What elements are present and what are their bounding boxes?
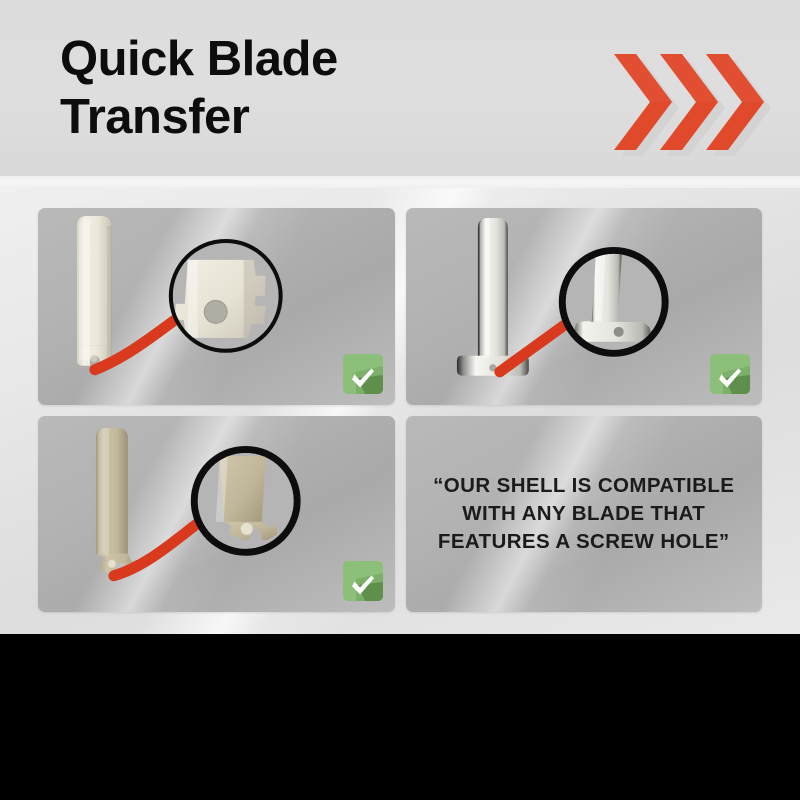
key-blade-brass-worn <box>96 427 140 573</box>
header-band: Quick Blade Transfer <box>0 0 800 178</box>
panel-quote: “OUR SHELL IS COMPATIBLE WITH ANY BLADE … <box>406 416 763 613</box>
panel-area: “OUR SHELL IS COMPATIBLE WITH ANY BLADE … <box>0 188 800 634</box>
magnifier-circle-icon <box>191 445 301 555</box>
green-check-icon <box>343 561 383 601</box>
promo-infographic: Quick Blade Transfer <box>0 0 800 800</box>
panel-grid: “OUR SHELL IS COMPATIBLE WITH ANY BLADE … <box>38 208 762 612</box>
page-title: Quick Blade Transfer <box>60 30 580 146</box>
panel-blade-brass[interactable] <box>38 416 395 613</box>
triple-chevron-right-icon <box>612 40 782 168</box>
compatibility-quote: “OUR SHELL IS COMPATIBLE WITH ANY BLADE … <box>406 472 763 556</box>
magnifier-circle-icon <box>558 247 668 357</box>
panel-blade-white[interactable] <box>38 208 395 405</box>
green-check-icon <box>343 354 383 394</box>
green-check-icon <box>710 354 750 394</box>
magnifier-circle-icon <box>169 239 283 353</box>
footer-band: NO CUTTING. NO PROGRAMMING. JUST SWAP. S… <box>0 634 800 800</box>
panel-blade-chrome[interactable] <box>406 208 763 405</box>
key-blade-white-worn <box>77 216 112 366</box>
